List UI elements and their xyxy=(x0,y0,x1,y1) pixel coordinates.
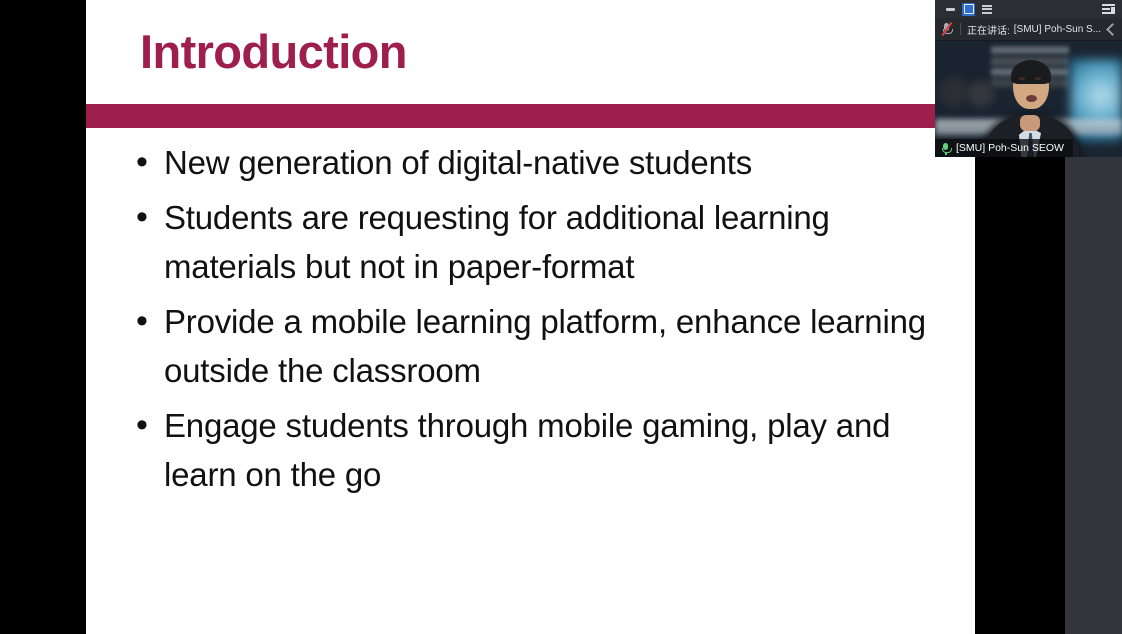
microphone-icon xyxy=(940,142,951,155)
active-speaker-video-tile[interactable]: [SMU] Poh-Sun SEOW xyxy=(935,41,1122,157)
participant-neck xyxy=(1020,115,1040,131)
list-item: • Provide a mobile learning platform, en… xyxy=(132,297,982,395)
zoom-window-titlebar[interactable] xyxy=(935,0,1122,18)
list-item: • Engage students through mobile gaming,… xyxy=(132,401,982,499)
minimize-icon[interactable] xyxy=(944,3,957,16)
speaking-participant-name: [SMU] Poh-Sun S... xyxy=(1014,24,1101,35)
title-underline-bar xyxy=(86,104,936,128)
participant-name-chip: [SMU] Poh-Sun SEOW xyxy=(935,139,1073,157)
participant-eye-left xyxy=(1019,77,1025,80)
screen-root: Introduction • New generation of digital… xyxy=(0,0,1122,634)
participant-hair xyxy=(1011,60,1051,84)
participants-list-icon[interactable] xyxy=(980,3,993,16)
list-item-text: Provide a mobile learning platform, enha… xyxy=(164,297,934,395)
speaking-prefix-label: 正在讲话: xyxy=(967,22,1010,37)
participant-mouth xyxy=(1026,95,1037,102)
layout-toggle-icon[interactable] xyxy=(1100,3,1116,16)
list-item-text: Engage students through mobile gaming, p… xyxy=(164,401,934,499)
list-item-text: New generation of digital-native student… xyxy=(164,138,934,187)
video-bg-blob xyxy=(939,77,969,107)
slide-bullet-list: • New generation of digital-native stude… xyxy=(132,138,982,505)
restore-window-icon[interactable] xyxy=(962,3,975,16)
shared-slide: Introduction • New generation of digital… xyxy=(86,0,975,634)
bullet-icon: • xyxy=(132,401,164,450)
list-item: • New generation of digital-native stude… xyxy=(132,138,982,187)
collapse-chevron-icon[interactable] xyxy=(1105,22,1119,36)
bullet-icon: • xyxy=(132,138,164,187)
active-speaker-bar: 正在讲话: [SMU] Poh-Sun S... xyxy=(935,18,1122,41)
participant-eye-right xyxy=(1035,77,1041,80)
page-title: Introduction xyxy=(140,28,407,75)
zoom-floating-video-window[interactable]: 正在讲话: [SMU] Poh-Sun S... xyxy=(935,0,1122,157)
divider xyxy=(960,23,961,35)
participant-name-label: [SMU] Poh-Sun SEOW xyxy=(956,142,1064,154)
list-item: • Students are requesting for additional… xyxy=(132,193,982,291)
list-item-text: Students are requesting for additional l… xyxy=(164,193,934,291)
bullet-icon: • xyxy=(132,297,164,346)
bullet-icon: • xyxy=(132,193,164,242)
microphone-muted-icon xyxy=(941,22,953,36)
